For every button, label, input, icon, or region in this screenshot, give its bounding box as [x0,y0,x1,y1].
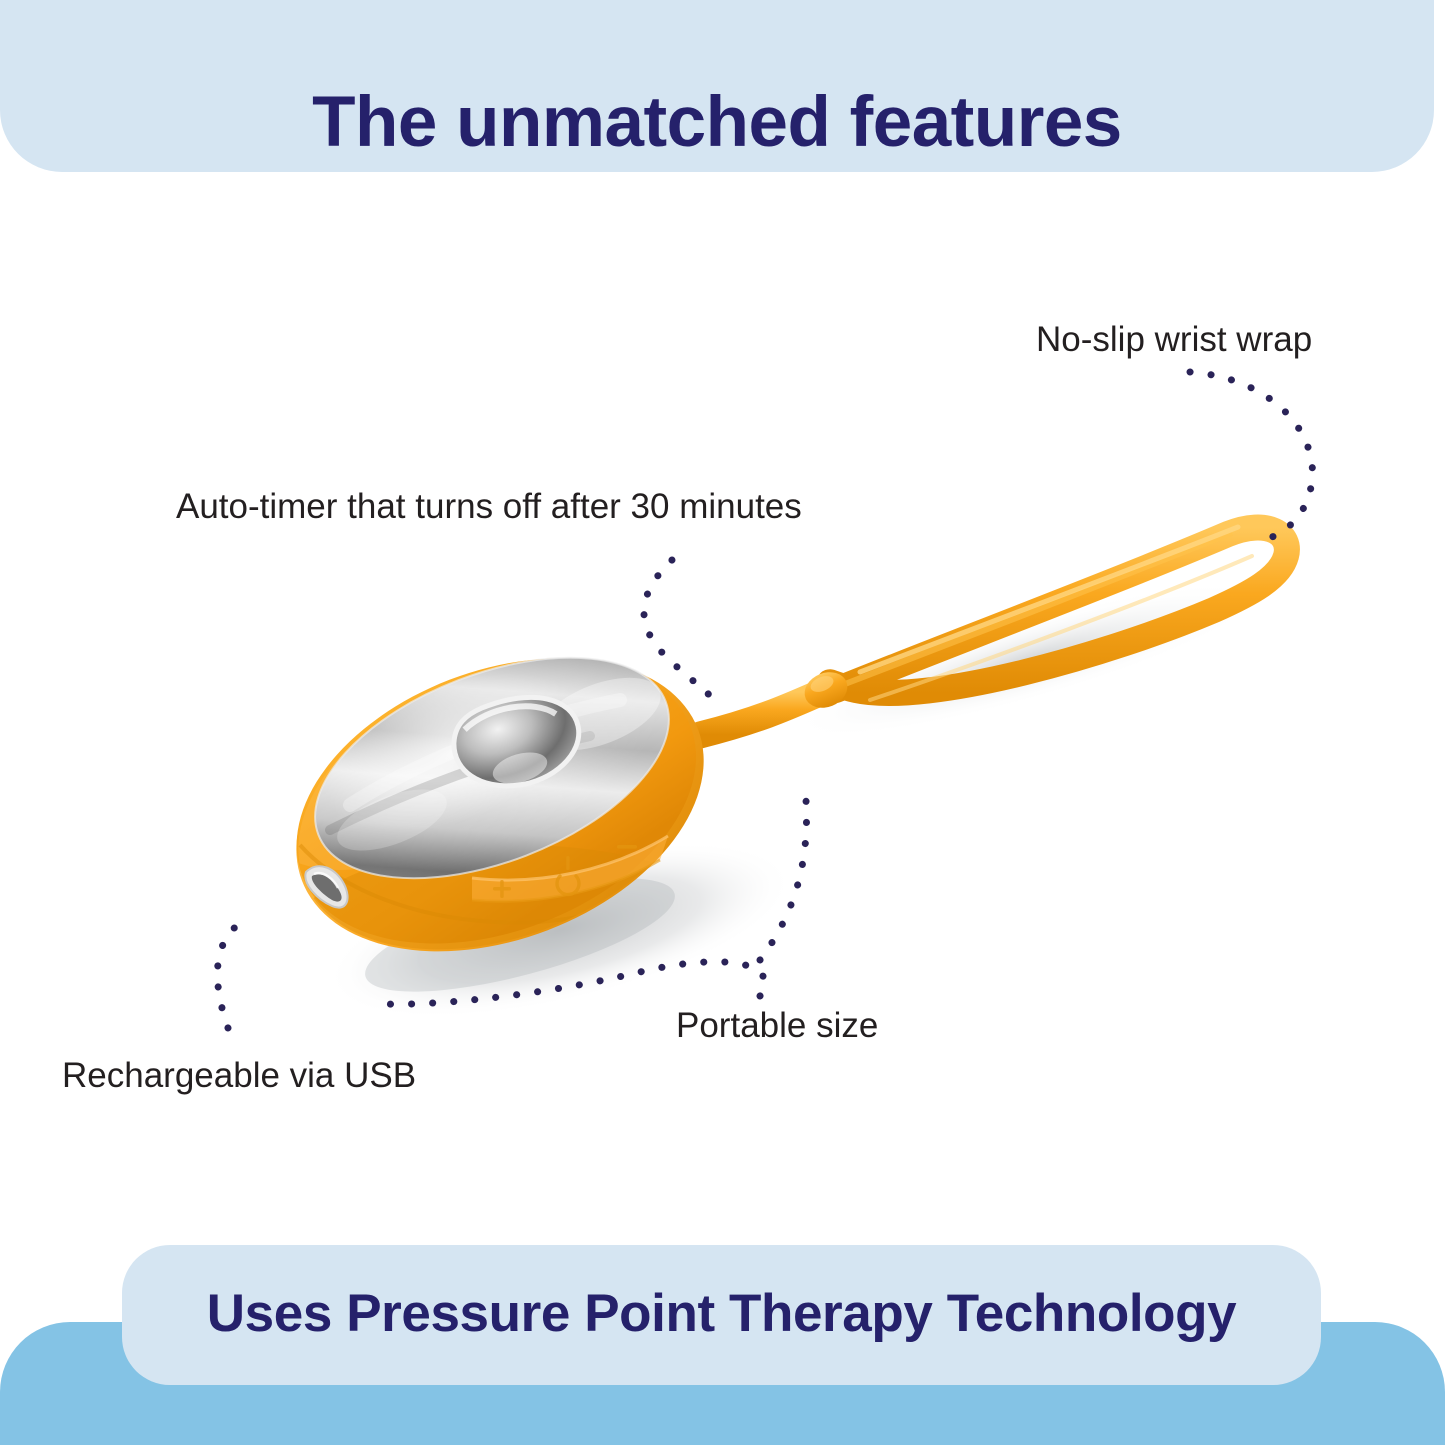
callout-label-auto-timer: Auto-timer that turns off after 30 minut… [176,487,802,527]
connector-lines [0,0,1445,1445]
callout-label-portable-size: Portable size [676,1006,878,1046]
callout-label-no-slip-wrist-wrap: No-slip wrist wrap [1036,320,1312,360]
infographic-page: The unmatched features [0,0,1445,1445]
connector-no-slip-wrist-wrap [1190,372,1313,538]
connector-portable-size [382,962,765,1004]
connector-portable-size-upper [760,800,807,960]
footer-tagline: Uses Pressure Point Therapy Technology [122,1283,1321,1344]
connector-rechargeable-usb [217,918,248,1028]
connector-auto-timer [644,560,709,694]
callout-label-rechargeable-usb: Rechargeable via USB [62,1056,416,1096]
